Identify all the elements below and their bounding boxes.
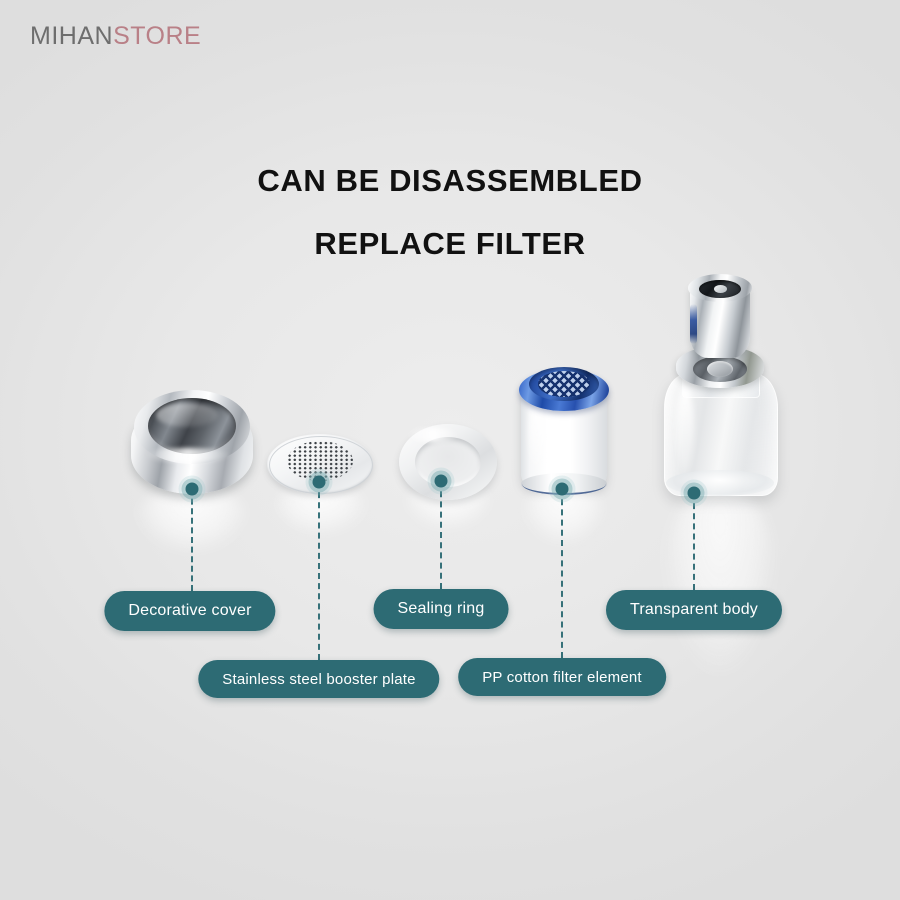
part-sealing-ring — [399, 424, 497, 500]
reflection-sealing-ring — [402, 484, 494, 530]
ring-inner-hole — [415, 437, 481, 487]
headline-line-1: CAN BE DISASSEMBLED — [0, 163, 900, 199]
chrome-top-aperture — [699, 280, 741, 298]
cover-top-face — [134, 390, 250, 464]
leader-line-sealing-ring — [440, 481, 442, 589]
transparent-jar-neck — [682, 362, 760, 398]
cover-inner-bore — [148, 398, 236, 454]
leader-line-pp-cotton-filter-element — [561, 489, 563, 658]
stem-blue-accent — [690, 304, 697, 344]
callout-label-decorative-cover: Decorative cover — [104, 591, 275, 631]
callout-label-transparent-body: Transparent body — [606, 590, 782, 630]
part-booster-plate — [267, 428, 373, 502]
filter-blue-cap — [519, 369, 609, 411]
filter-highlight — [529, 401, 545, 471]
transparent-jar — [664, 374, 778, 496]
product-parts-stage — [0, 0, 900, 900]
chrome-top-ring — [688, 274, 752, 302]
filter-cap-inner — [529, 367, 599, 401]
chrome-stem — [690, 284, 750, 358]
brand-logo-part2: STORE — [113, 22, 201, 50]
part-filter-element — [519, 363, 609, 498]
transparent-jar-sheen — [676, 386, 694, 472]
callout-label-sealing-ring: Sealing ring — [374, 589, 509, 629]
headline-line-2: REPLACE FILTER — [0, 226, 900, 262]
leader-line-decorative-cover — [191, 489, 193, 591]
chrome-collar-inner — [693, 356, 747, 382]
callout-dot-stainless-steel-booster-plate — [313, 476, 326, 489]
leader-line-transparent-body — [693, 493, 695, 590]
callout-dot-decorative-cover — [186, 483, 199, 496]
reflection-transparent-body — [662, 486, 778, 676]
callout-dot-pp-cotton-filter-element — [556, 483, 569, 496]
ring-outer-body — [399, 424, 497, 500]
cover-outer-ring — [131, 402, 253, 494]
callout-dot-transparent-body — [688, 487, 701, 500]
callout-label-pp-cotton-filter-element: PP cotton filter element — [458, 658, 666, 696]
brand-logo: MIHANSTORE — [30, 22, 201, 51]
leader-line-stainless-steel-booster-plate — [318, 482, 320, 660]
infographic-canvas: MIHANSTORE CAN BE DISASSEMBLED REPLACE F… — [0, 0, 900, 900]
reflection-booster-plate — [270, 486, 370, 536]
brand-logo-part1: MIHAN — [30, 22, 113, 50]
filter-cylinder — [521, 389, 607, 487]
transparent-jar-base — [666, 470, 774, 496]
chrome-collar — [676, 346, 764, 388]
ring-highlight — [407, 428, 459, 442]
callout-label-stainless-steel-booster-plate: Stainless steel booster plate — [198, 660, 439, 698]
callout-dot-sealing-ring — [435, 475, 448, 488]
filter-mesh-grid — [538, 371, 590, 397]
part-transparent-body — [660, 262, 780, 502]
cover-highlight — [145, 448, 231, 462]
